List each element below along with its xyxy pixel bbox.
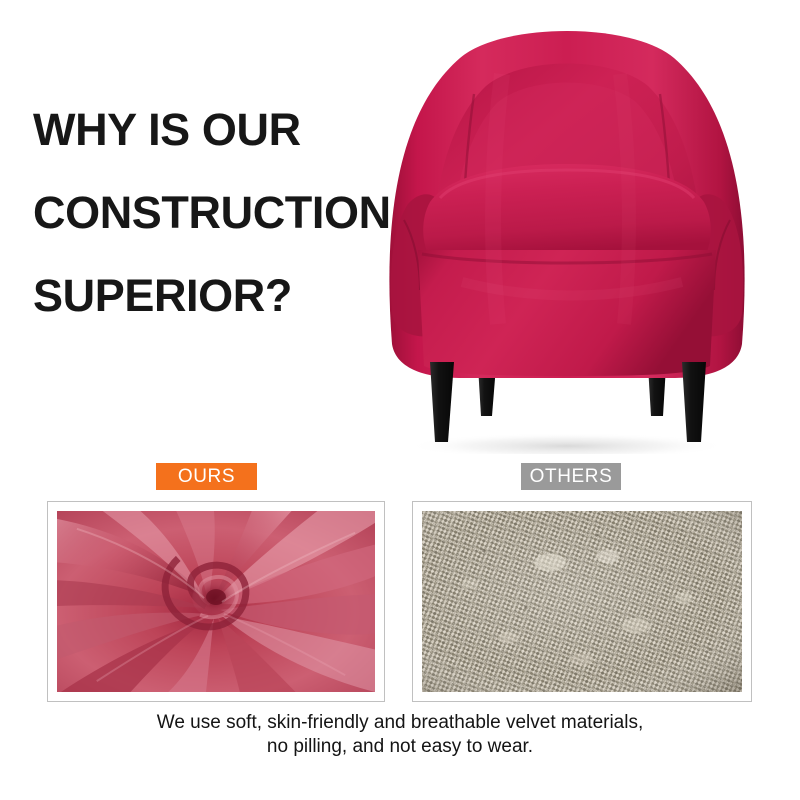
chair-seat-cushion	[423, 164, 711, 258]
caption-text: We use soft, skin-friendly and breathabl…	[0, 711, 800, 759]
badge-others: OTHERS	[521, 463, 621, 490]
caption-line-1: We use soft, skin-friendly and breathabl…	[0, 711, 800, 735]
headline-line-3: SUPERIOR?	[33, 254, 363, 337]
chair-front-apron	[418, 250, 716, 376]
product-chair-image	[352, 14, 782, 454]
marketing-infographic: WHY IS OUR CONSTRUCTION SUPERIOR?	[0, 0, 800, 800]
swatch-frame-ours	[47, 501, 385, 702]
caption-line-2: no pilling, and not easy to wear.	[0, 735, 800, 759]
headline-line-2: CONSTRUCTION	[33, 171, 363, 254]
chair-leg-front-left	[430, 362, 454, 442]
swatch-frame-others	[412, 501, 752, 702]
badge-ours: OURS	[156, 463, 257, 490]
chair-leg-front-right	[682, 362, 706, 442]
page-title: WHY IS OUR CONSTRUCTION SUPERIOR?	[33, 88, 363, 337]
headline-line-1: WHY IS OUR	[33, 88, 363, 171]
burlap-swatch-image	[422, 511, 742, 692]
velvet-swatch-image	[57, 511, 375, 692]
